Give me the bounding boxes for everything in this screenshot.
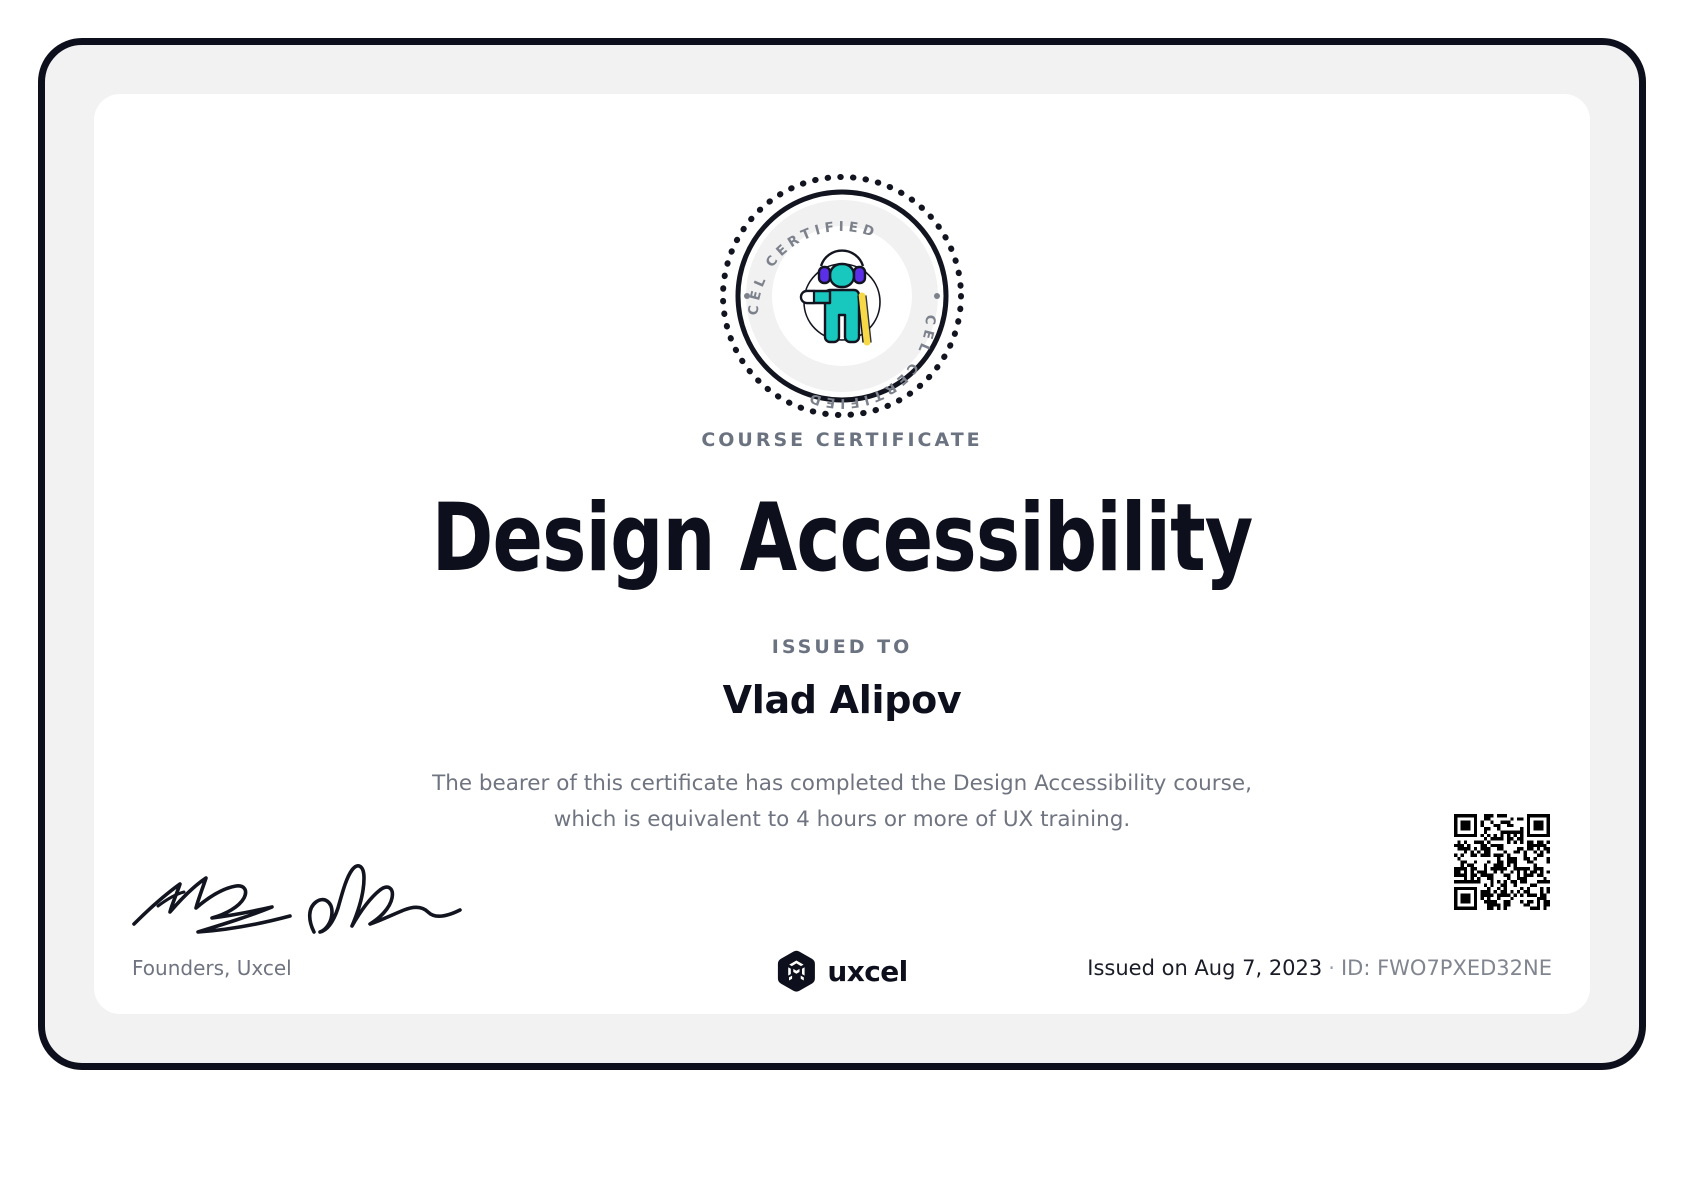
certificate-description: The bearer of this certificate has compl… xyxy=(432,766,1252,838)
certificate-frame: UXCEL CERTIFIED UXCEL CERTIFIED xyxy=(38,38,1646,1070)
verification-qr-code-icon[interactable] xyxy=(1452,814,1552,910)
issue-date: Issued on Aug 7, 2023 xyxy=(1087,956,1322,980)
certificate-card: UXCEL CERTIFIED UXCEL CERTIFIED xyxy=(94,94,1590,1014)
uxcel-brand-logo: uxcel xyxy=(776,950,907,993)
description-line-1: The bearer of this certificate has compl… xyxy=(432,766,1252,802)
uxcel-wordmark: uxcel xyxy=(827,958,907,986)
meta-separator: · xyxy=(1322,956,1341,980)
certificate-id: ID: FWO7PXED32NE xyxy=(1341,956,1552,980)
uxcel-hexagon-cube-logo-icon xyxy=(776,950,816,993)
founders-label: Founders, Uxcel xyxy=(132,956,292,980)
issue-meta: Issued on Aug 7, 2023·ID: FWO7PXED32NE xyxy=(1087,956,1552,980)
course-certificate-eyebrow: COURSE CERTIFICATE xyxy=(94,429,1590,451)
certificate-title: Design Accessibility xyxy=(184,489,1500,589)
founders-signatures-icon xyxy=(132,846,462,941)
uxcel-certified-seal-icon: UXCEL CERTIFIED UXCEL CERTIFIED xyxy=(701,170,983,422)
recipient-name: Vlad Alipov xyxy=(94,678,1590,722)
issued-to-label: ISSUED TO xyxy=(94,636,1590,658)
description-line-2: which is equivalent to 4 hours or more o… xyxy=(432,802,1252,838)
